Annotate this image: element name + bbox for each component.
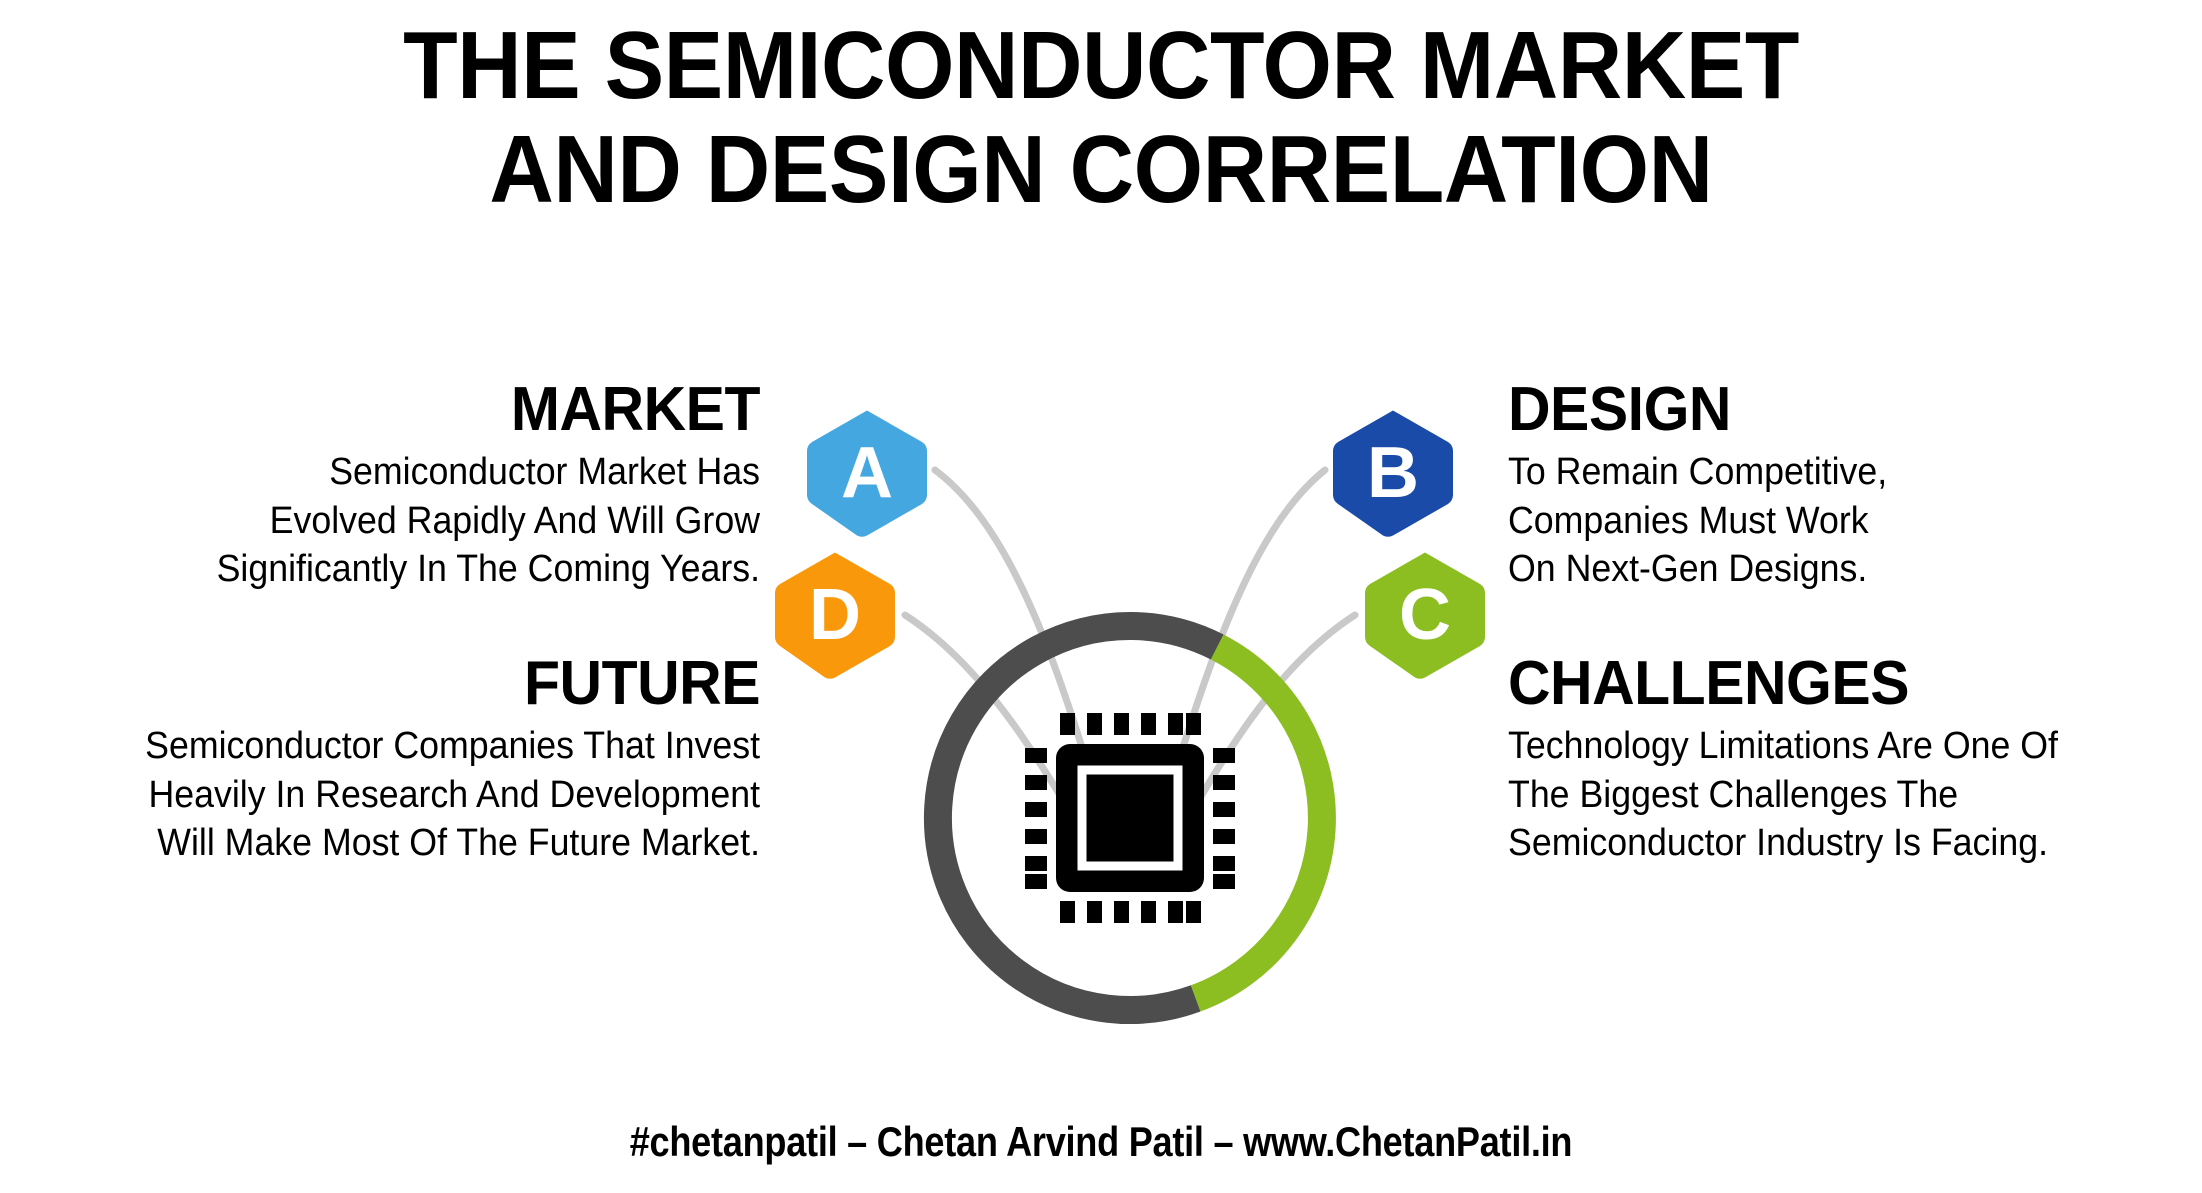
section-market-body-line: Evolved Rapidly And Will Grow xyxy=(83,497,760,546)
section-challenges-body-line: Semiconductor Industry Is Facing. xyxy=(1508,819,2157,868)
badge-hexagon-c[interactable]: C xyxy=(1365,553,1485,679)
section-market: MARKET Semiconductor Market Has Evolved … xyxy=(40,378,760,594)
section-design-body-line: Companies Must Work xyxy=(1508,497,2147,546)
section-future-body-line: Will Make Most Of The Future Market. xyxy=(55,819,760,868)
microchip-icon xyxy=(1025,713,1235,923)
badge-letter-a: A xyxy=(841,433,893,513)
section-design-body-line: On Next-Gen Designs. xyxy=(1508,545,2147,594)
badge-hexagon-b[interactable]: B xyxy=(1333,411,1453,537)
section-design-body-line: To Remain Competitive, xyxy=(1508,448,2147,497)
title-line-2: AND DESIGN CORRELATION xyxy=(77,118,2125,222)
section-future-heading: FUTURE xyxy=(48,652,761,715)
badge-letter-c: C xyxy=(1399,575,1451,655)
section-challenges-body: Technology Limitations Are One Of The Bi… xyxy=(1508,722,2157,868)
section-challenges: CHALLENGES Technology Limitations Are On… xyxy=(1508,652,2198,868)
section-challenges-body-line: Technology Limitations Are One Of xyxy=(1508,722,2157,771)
section-market-body-line: Semiconductor Market Has xyxy=(83,448,760,497)
section-future: FUTURE Semiconductor Companies That Inve… xyxy=(10,652,760,868)
section-future-body-line: Semiconductor Companies That Invest xyxy=(55,722,760,771)
section-design: DESIGN To Remain Competitive, Companies … xyxy=(1508,378,2188,594)
infographic-slide: THE SEMICONDUCTOR MARKET AND DESIGN CORR… xyxy=(0,0,2202,1193)
section-challenges-heading: CHALLENGES xyxy=(1508,652,2164,715)
footer: #chetanpatil – Chetan Arvind Patil – www… xyxy=(0,1118,2202,1166)
section-market-heading: MARKET xyxy=(76,378,760,441)
central-diagram: A B D C xyxy=(760,410,1500,1070)
title-line-1: THE SEMICONDUCTOR MARKET xyxy=(77,14,2125,118)
section-market-body-line: Significantly In The Coming Years. xyxy=(83,545,760,594)
badge-hexagon-d[interactable]: D xyxy=(775,553,895,679)
section-design-body: To Remain Competitive, Companies Must Wo… xyxy=(1508,448,2147,594)
badge-hexagon-a[interactable]: A xyxy=(807,411,927,537)
page-title: THE SEMICONDUCTOR MARKET AND DESIGN CORR… xyxy=(0,14,2202,221)
ring-segment-accent xyxy=(1196,647,1322,998)
section-challenges-body-line: The Biggest Challenges The xyxy=(1508,771,2157,820)
badge-letter-d: D xyxy=(809,575,861,655)
section-market-body: Semiconductor Market Has Evolved Rapidly… xyxy=(83,448,760,594)
section-future-body: Semiconductor Companies That Invest Heav… xyxy=(55,722,760,868)
footer-credit: #chetanpatil – Chetan Arvind Patil – www… xyxy=(630,1118,1573,1166)
section-design-heading: DESIGN xyxy=(1508,378,2154,441)
badge-letter-b: B xyxy=(1367,433,1419,513)
section-future-body-line: Heavily In Research And Development xyxy=(55,771,760,820)
